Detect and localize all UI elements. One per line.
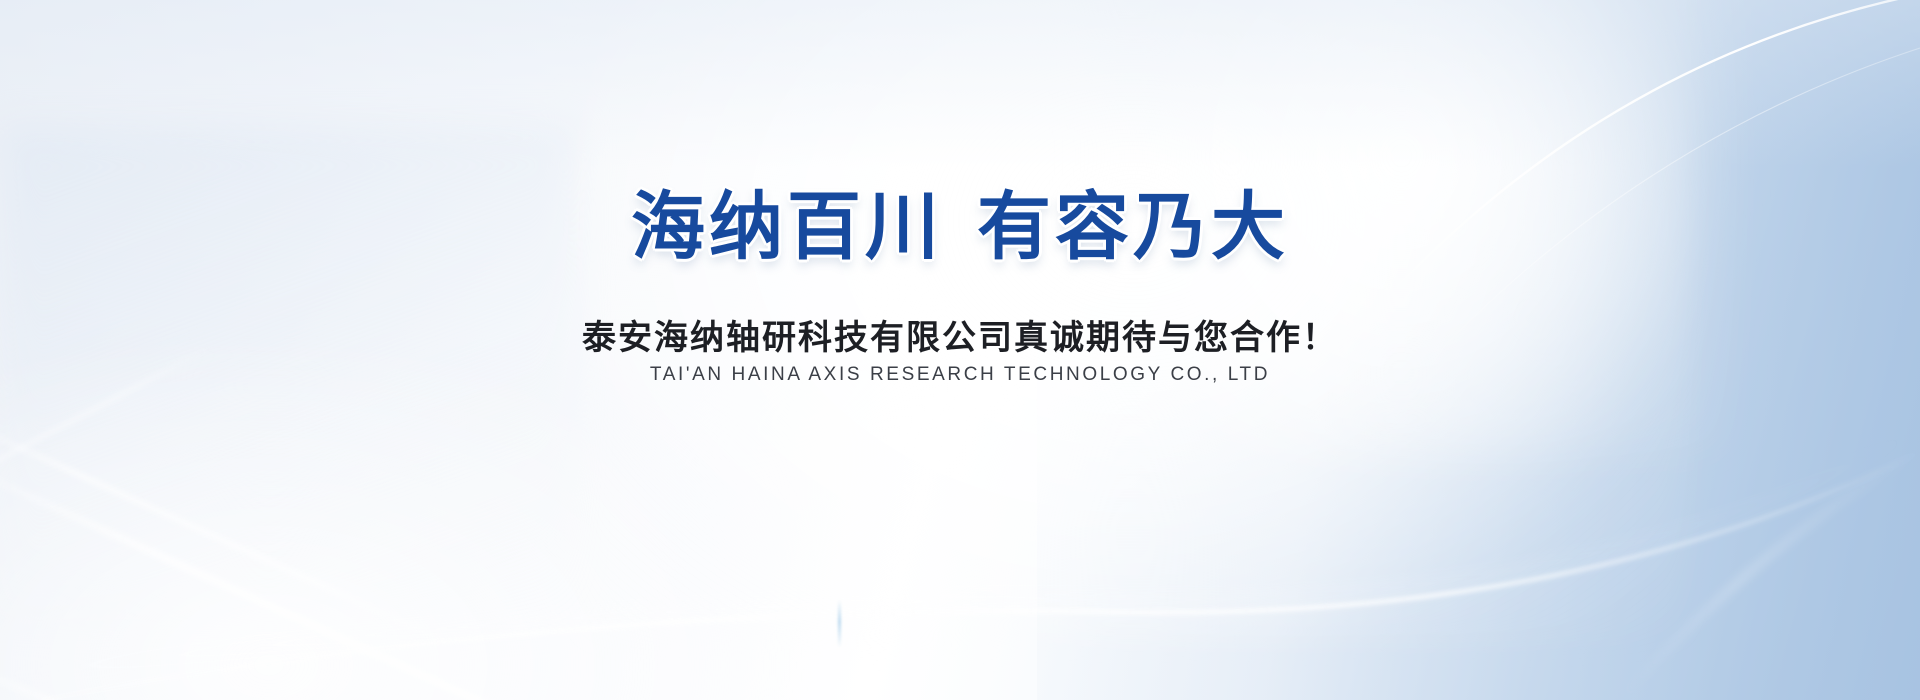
hero-banner: 海纳百川有容乃大 泰安海纳轴研科技有限公司真诚期待与您合作！ TAI'AN HA… bbox=[0, 0, 1920, 700]
headline-part-two: 有容乃大 bbox=[977, 185, 1289, 268]
banner-headline: 海纳百川有容乃大 bbox=[631, 167, 1289, 274]
banner-subtitle-english: TAI'AN HAINA AXIS RESEARCH TECHNOLOGY CO… bbox=[650, 364, 1270, 386]
banner-content: 海纳百川有容乃大 泰安海纳轴研科技有限公司真诚期待与您合作！ TAI'AN HA… bbox=[0, 0, 1920, 700]
headline-part-one: 海纳百川 bbox=[631, 185, 943, 268]
banner-subtitle-chinese: 泰安海纳轴研科技有限公司真诚期待与您合作！ bbox=[582, 310, 1338, 359]
